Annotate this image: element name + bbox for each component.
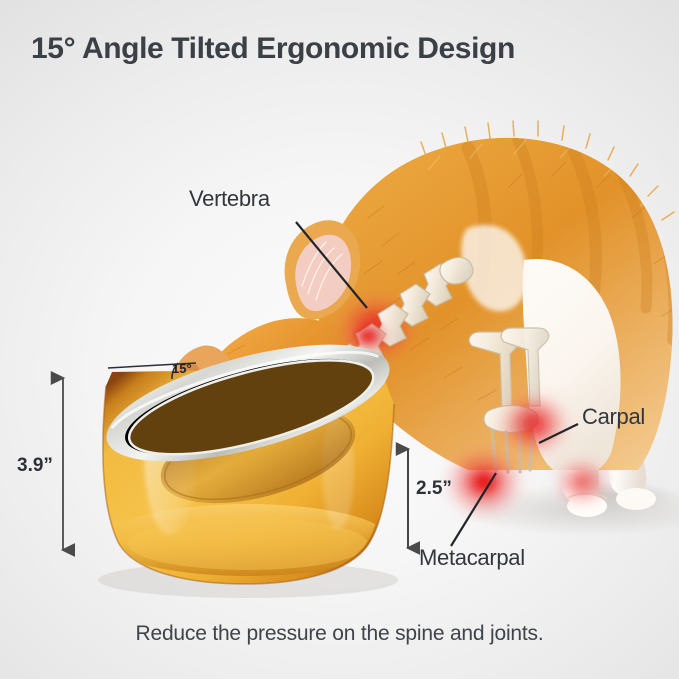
dimension-label-bowl-height: 3.9”	[17, 455, 53, 477]
annotation-label-vertebra: Vertebra	[189, 186, 270, 212]
infographic-canvas: 15° Angle Tilted Ergonomic Design	[0, 0, 679, 679]
page-title: 15° Angle Tilted Ergonomic Design	[31, 32, 515, 66]
annotation-label-metacarpal: Metacarpal	[419, 545, 525, 571]
cat-photo	[168, 78, 679, 578]
angle-value-label: 15°	[172, 361, 192, 376]
annotation-label-carpal: Carpal	[582, 404, 645, 430]
dimension-label-cat-reach-height: 2.5”	[416, 478, 452, 500]
footer-caption: Reduce the pressure on the spine and joi…	[0, 622, 679, 646]
